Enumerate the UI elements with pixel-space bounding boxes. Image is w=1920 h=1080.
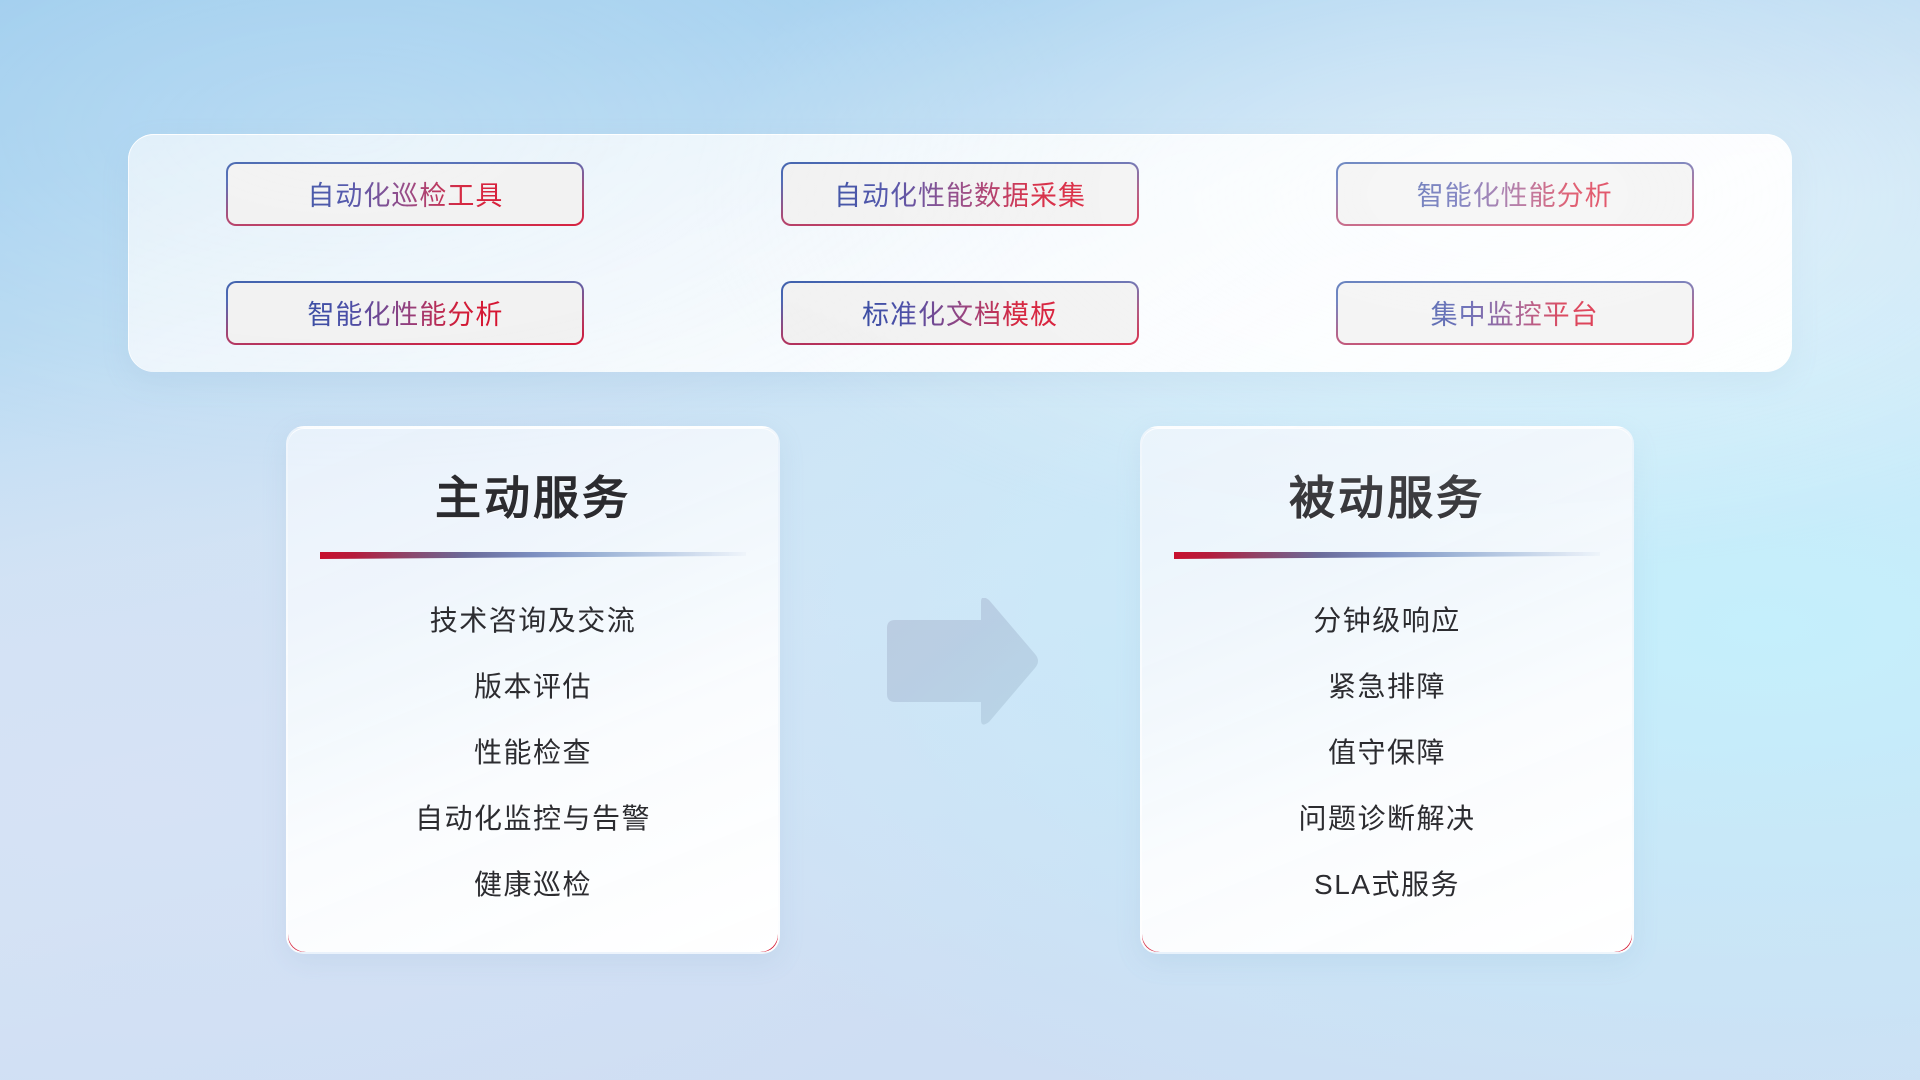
capability-pill-2-label: 自动化性能数据采集 <box>834 174 1086 213</box>
right-arrow-icon <box>877 598 1041 726</box>
list-item: 健康巡检 <box>474 863 592 903</box>
capability-pill-6-inner: 集中监控平台 <box>1338 283 1692 343</box>
list-item: 自动化监控与告警 <box>415 797 651 837</box>
service-card-reactive-items: 分钟级响应 紧急排障 值守保障 问题诊断解决 SLA式服务 <box>1142 599 1632 903</box>
list-item: 版本评估 <box>474 665 592 705</box>
list-item: 值守保障 <box>1328 731 1446 771</box>
capability-pill-6[interactable]: 集中监控平台 <box>1336 281 1694 345</box>
capability-pill-3-inner: 智能化性能分析 <box>1338 164 1692 224</box>
capability-pill-5-inner: 标准化文档模板 <box>783 283 1137 343</box>
service-card-reactive-divider <box>1174 552 1600 559</box>
capabilities-pill-grid: 自动化巡检工具 自动化性能数据采集 智能化性能分析 智能化性能分析 <box>128 134 1792 372</box>
list-item: 问题诊断解决 <box>1298 797 1475 837</box>
capability-pill-6-label: 集中监控平台 <box>1431 293 1599 332</box>
list-item: 技术咨询及交流 <box>430 599 637 639</box>
service-card-reactive-title: 被动服务 <box>1142 462 1632 528</box>
capability-pill-4[interactable]: 智能化性能分析 <box>226 281 584 345</box>
service-card-proactive-divider <box>320 552 746 559</box>
capability-pill-3[interactable]: 智能化性能分析 <box>1336 162 1694 226</box>
capability-pill-1[interactable]: 自动化巡检工具 <box>226 162 584 226</box>
service-card-proactive-title: 主动服务 <box>288 462 778 528</box>
capability-pill-1-label: 自动化巡检工具 <box>307 174 503 213</box>
capability-pill-4-inner: 智能化性能分析 <box>228 283 582 343</box>
capability-pill-5-label: 标准化文档模板 <box>862 293 1058 332</box>
capability-pill-2[interactable]: 自动化性能数据采集 <box>781 162 1139 226</box>
list-item: 性能检查 <box>474 731 592 771</box>
service-card-proactive[interactable]: 主动服务 技术咨询及交流 版本评估 性能检查 自动化监控与告警 健康巡检 <box>286 426 780 954</box>
service-card-reactive[interactable]: 被动服务 分钟级响应 紧急排障 值守保障 问题诊断解决 SLA式服务 <box>1140 426 1634 954</box>
capability-pill-4-label: 智能化性能分析 <box>307 293 503 332</box>
capability-pill-1-inner: 自动化巡检工具 <box>228 164 582 224</box>
capability-pill-5[interactable]: 标准化文档模板 <box>781 281 1139 345</box>
capability-pill-3-label: 智能化性能分析 <box>1417 174 1613 213</box>
list-item: 分钟级响应 <box>1313 599 1461 639</box>
service-card-proactive-items: 技术咨询及交流 版本评估 性能检查 自动化监控与告警 健康巡检 <box>288 599 778 903</box>
list-item: 紧急排障 <box>1328 665 1446 705</box>
capability-pill-2-inner: 自动化性能数据采集 <box>783 164 1137 224</box>
list-item: SLA式服务 <box>1314 863 1460 903</box>
slide-canvas: 自动化巡检工具 自动化性能数据采集 智能化性能分析 智能化性能分析 <box>0 0 1920 1080</box>
capabilities-panel: 自动化巡检工具 自动化性能数据采集 智能化性能分析 智能化性能分析 <box>128 134 1792 372</box>
